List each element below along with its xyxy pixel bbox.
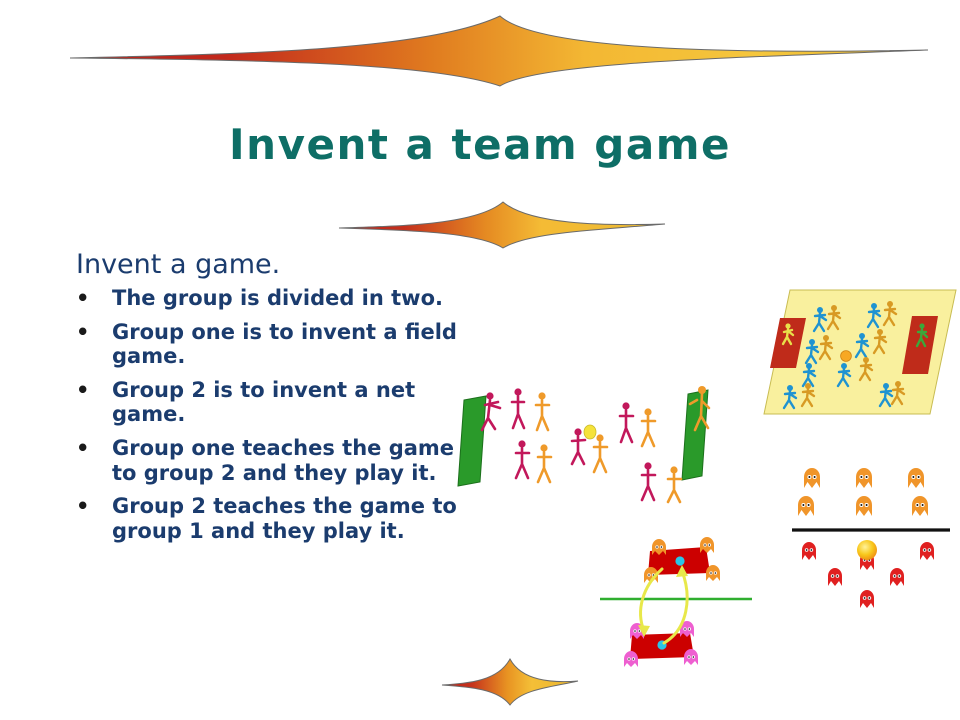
bullet-marker: •	[76, 286, 89, 311]
body-text-block: Invent a game. • The group is divided in…	[76, 250, 466, 552]
list-item: • Group one teaches the game to group 2 …	[76, 436, 466, 485]
list-item: • The group is divided in two.	[76, 286, 466, 311]
bullet-list: • The group is divided in two. • Group o…	[76, 286, 466, 543]
lead-line: Invent a game.	[76, 250, 466, 280]
bullet-marker: •	[76, 494, 89, 519]
bullet-marker: •	[76, 378, 89, 403]
bullet-marker: •	[76, 320, 89, 345]
list-item-label: Group one teaches the game to group 2 an…	[112, 436, 454, 485]
player-group-orange	[798, 468, 928, 516]
field-overview-illustration	[762, 282, 958, 422]
slide-title: Invent a team game	[0, 120, 960, 169]
net-court-illustration	[596, 525, 756, 670]
list-item: • Group one is to invent a field game.	[76, 320, 466, 369]
star-decoration-top	[68, 10, 930, 88]
ball-icon	[857, 540, 877, 560]
list-item-label: Group 2 is to invent a net game.	[112, 378, 415, 427]
star-decoration-bottom	[440, 655, 580, 707]
list-item-label: Group one is to invent a field game.	[112, 320, 457, 369]
ball-icon	[841, 351, 852, 362]
net-overhead-illustration	[786, 462, 956, 617]
list-item-label: Group 2 teaches the game to group 1 and …	[112, 494, 457, 543]
list-item-label: The group is divided in two.	[112, 286, 443, 310]
slide-canvas: Invent a team game Invent a game. • The …	[0, 0, 960, 720]
list-item: • Group 2 teaches the game to group 1 an…	[76, 494, 466, 543]
ball-icon	[584, 425, 596, 439]
list-item: • Group 2 is to invent a net game.	[76, 378, 466, 427]
bullet-marker: •	[76, 436, 89, 461]
star-decoration-middle	[337, 198, 667, 250]
field-game-illustration	[452, 382, 732, 512]
